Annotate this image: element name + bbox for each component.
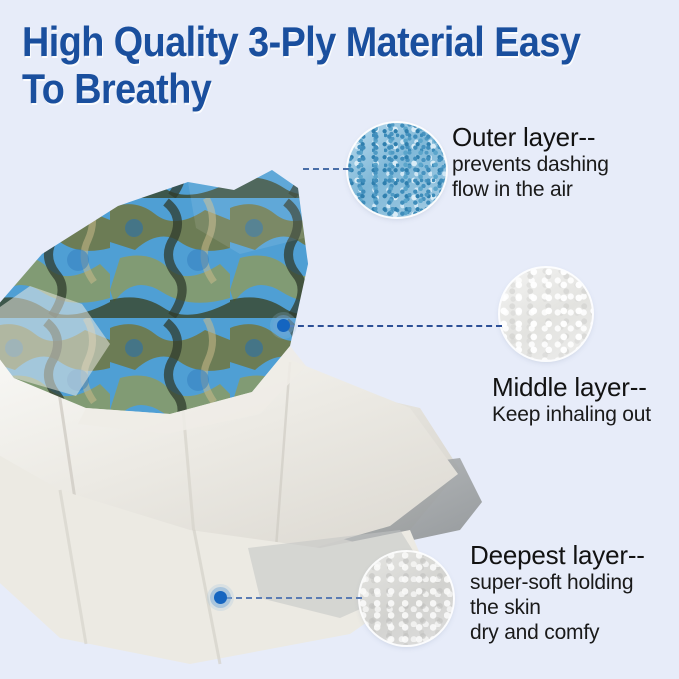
callout-outer-layer: Outer layer-- prevents dashing flow in t…	[452, 122, 609, 202]
callout-deepest-line-2: the skin	[470, 595, 645, 620]
callout-deepest-line-1: super-soft holding	[470, 570, 645, 595]
product-infographic: High Quality 3-Ply Material Easy To Brea…	[0, 0, 679, 679]
title-line-2: To Breathy	[22, 65, 589, 112]
connector-line-outer	[303, 168, 349, 170]
callout-middle-layer: Middle layer-- Keep inhaling out	[492, 372, 651, 427]
anchor-dot-deepest	[214, 591, 227, 604]
callout-outer-line-1: prevents dashing	[452, 152, 609, 177]
callout-deepest-line-3: dry and comfy	[470, 620, 645, 645]
callout-deepest-heading: Deepest layer--	[470, 540, 645, 570]
middle-layer-fabric-swatch	[500, 268, 592, 360]
anchor-dot-middle	[277, 319, 290, 332]
title-line-1: High Quality 3-Ply Material Easy	[22, 18, 589, 65]
callout-middle-line-1: Keep inhaling out	[492, 402, 651, 427]
callout-middle-heading: Middle layer--	[492, 372, 651, 402]
connector-line-deepest	[226, 597, 362, 599]
callout-outer-heading: Outer layer--	[452, 122, 609, 152]
outer-layer-fabric-swatch	[348, 123, 446, 217]
connector-line-middle	[288, 325, 502, 327]
callout-deepest-layer: Deepest layer-- super-soft holding the s…	[470, 540, 645, 645]
deepest-layer-fabric-swatch	[360, 552, 453, 645]
callout-outer-line-2: flow in the air	[452, 177, 609, 202]
page-title: High Quality 3-Ply Material Easy To Brea…	[22, 18, 652, 112]
